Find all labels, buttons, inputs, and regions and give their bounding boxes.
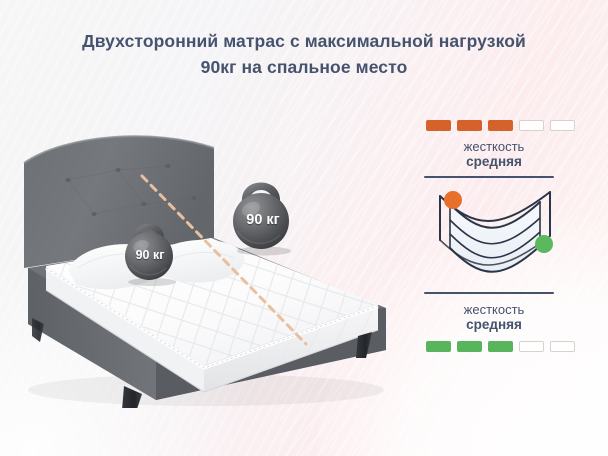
firmness-segment-empty [550, 120, 575, 131]
diagram-marker-top-orange [444, 191, 462, 209]
firmness-segment-empty [519, 120, 544, 131]
firmness-segment-empty [550, 341, 575, 352]
firmness-value-top: средняя [424, 154, 564, 169]
firmness-label-top: жесткость [424, 139, 564, 154]
firmness-label-bottom: жесткость [424, 302, 564, 317]
firmness-scale-bottom [426, 341, 586, 352]
panel-divider-top [424, 176, 554, 178]
firmness-caption-bottom: жесткость средняя [424, 302, 564, 332]
firmness-segment-filled [426, 120, 451, 131]
firmness-segment-empty [519, 341, 544, 352]
firmness-block-bottom: жесткость средняя [426, 292, 586, 352]
kettlebell-right: 90 кг [222, 168, 304, 256]
firmness-segment-filled [488, 120, 513, 131]
firmness-segment-filled [426, 341, 451, 352]
firmness-caption-top: жесткость средняя [424, 139, 564, 169]
firmness-scale-top [426, 120, 586, 131]
kettlebell-left: 90 кг [114, 210, 186, 286]
diagram-marker-bottom-green [535, 235, 553, 253]
firmness-segment-filled [457, 120, 482, 131]
firmness-block-top: жесткость средняя [426, 120, 586, 178]
firmness-segment-filled [457, 341, 482, 352]
page-title: Двухсторонний матрас с максимальной нагр… [0, 28, 608, 80]
firmness-segment-filled [488, 341, 513, 352]
kettlebell-body [125, 232, 173, 280]
kettlebell-body [233, 193, 289, 249]
bed-illustration [6, 118, 414, 408]
firmness-panel: жесткость средняя [418, 120, 594, 370]
infographic-canvas: Двухсторонний матрас с максимальной нагр… [0, 0, 608, 456]
firmness-value-bottom: средняя [424, 317, 564, 332]
panel-divider-bottom [424, 292, 554, 294]
mattress-cross-section-diagram [422, 182, 590, 290]
